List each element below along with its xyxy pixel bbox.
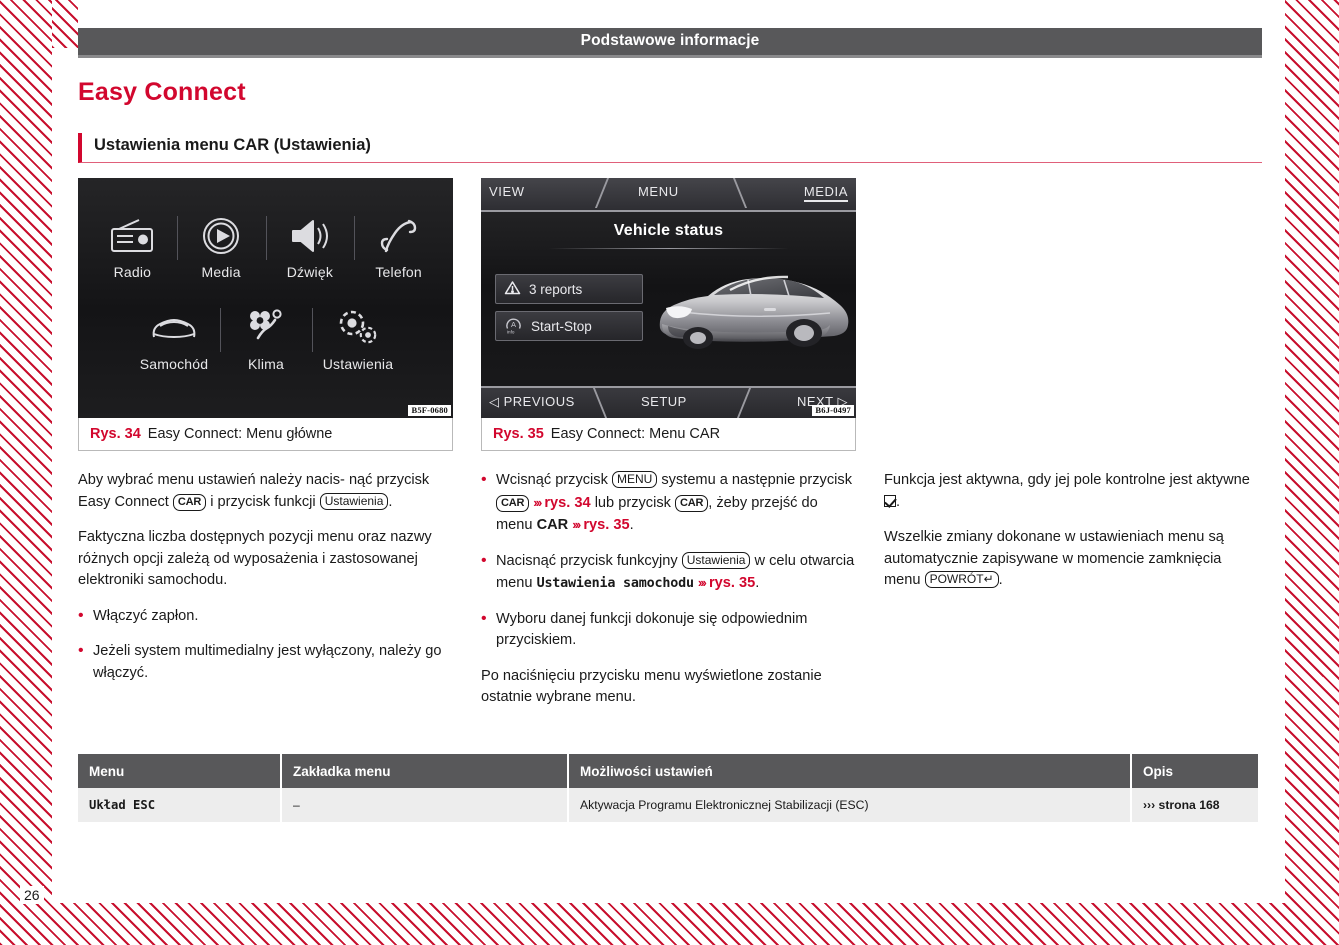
figure-caption-text: Easy Connect: Menu główne (148, 426, 333, 442)
phone-handset-icon (379, 212, 419, 260)
column-header-menu: Menu (78, 754, 281, 788)
tab-separator (595, 178, 609, 208)
chapter-title: Easy Connect (78, 78, 246, 107)
page-root: Podstawowe informacje Easy Connect Ustaw… (0, 0, 1339, 945)
text-run: . (630, 517, 634, 533)
paragraph: Aby wybrać menu ustawień należy nacis- n… (78, 470, 453, 513)
section-heading-text: Ustawienia menu CAR (Ustawienia) (94, 136, 371, 154)
cell-menu-tab: – (281, 788, 568, 822)
text-run: i przycisk funkcji (210, 494, 315, 510)
figure-34: Radio Media (78, 178, 453, 451)
tab-separator (733, 178, 747, 208)
car-menu-top-tabbar: VIEW MENU MEDIA (481, 178, 856, 212)
radio-icon (109, 212, 155, 260)
text-run: Nacisnąć przycisk funkcyjny (496, 553, 678, 569)
menu-item-phone[interactable]: Telefon (354, 212, 443, 280)
menu-item-climate[interactable]: Klima (220, 304, 312, 372)
text-run: Wcisnąć przycisk (496, 472, 608, 488)
page-corner-stripes (52, 0, 78, 48)
menu-button-key: MENU (612, 471, 657, 488)
menu-item-settings[interactable]: Ustawienia (312, 304, 404, 372)
cell-options: Aktywacja Programu Elektronicznej Stabil… (568, 788, 1131, 822)
settings-button-key: Ustawienia (682, 552, 751, 569)
gears-settings-icon (334, 304, 382, 352)
tab-menu[interactable]: MENU (638, 184, 679, 199)
start-stop-button-label: Start-Stop (531, 319, 592, 334)
reports-button[interactable]: 3 reports (495, 274, 643, 304)
cell-description[interactable]: ››› strona 168 (1131, 788, 1258, 822)
vehicle-illustration (652, 250, 852, 363)
figure-34-caption: Rys. 34 Easy Connect: Menu główne (78, 418, 453, 451)
menu-item-radio[interactable]: Radio (88, 212, 177, 280)
tab-setup[interactable]: SETUP (641, 394, 687, 409)
list-item: Włączyć zapłon. (78, 606, 453, 628)
page-number: 26 (20, 886, 44, 904)
car-button-key: CAR (675, 495, 708, 512)
text-run: systemu a następnie przycisk (661, 472, 852, 488)
menu-item-label: Telefon (375, 264, 422, 280)
tab-separator (593, 388, 607, 418)
figure-35-screen: VIEW MENU MEDIA Vehicle status 3 reports (481, 178, 856, 418)
figure-code: B6J-0497 (812, 405, 854, 416)
cross-reference[interactable]: rys. 34 (544, 495, 590, 511)
menu-name: Ustawienia samochodu (537, 576, 694, 591)
text-run: lub przycisk (595, 495, 671, 511)
speaker-sound-icon (288, 212, 332, 260)
list-item: Jeżeli system multimedialny jest wyłączo… (78, 641, 453, 684)
column-header-options: Możliwości ustawień (568, 754, 1131, 788)
list-item: Wyboru danej funkcji dokonuje się odpowi… (481, 609, 856, 652)
tab-media[interactable]: MEDIA (804, 184, 848, 199)
car-menu-bottom-tabbar: ◁ PREVIOUS SETUP NEXT ▷ (481, 386, 856, 418)
svg-text:info: info (507, 329, 515, 334)
figure-label: Rys. 35 (493, 426, 544, 442)
figure-code: B5F-0680 (408, 405, 451, 416)
back-button-label: POWRÓT (930, 572, 984, 586)
menu-item-label: Klima (248, 356, 284, 372)
paragraph: Faktyczna liczba dostępnych pozycji menu… (78, 527, 453, 592)
menu-item-sound[interactable]: Dźwięk (266, 212, 355, 280)
media-play-icon (201, 212, 241, 260)
start-stop-icon: A info (504, 316, 523, 337)
figure-35: VIEW MENU MEDIA Vehicle status 3 reports (481, 178, 856, 451)
running-header-title: Podstawowe informacje (581, 32, 760, 50)
menu-item-car[interactable]: Samochód (128, 304, 220, 372)
list-item: Nacisnąć przycisk funkcyjny Ustawienia w… (481, 551, 856, 595)
title-divider (549, 248, 789, 249)
text-run: Funkcja jest aktywna, gdy jej pole kontr… (884, 472, 1250, 488)
running-header: Podstawowe informacje (78, 28, 1262, 58)
tab-view[interactable]: VIEW (489, 184, 525, 199)
text-run: Aby wybrać menu ustawień należy nacis- (78, 472, 345, 488)
paragraph: Funkcja jest aktywna, gdy jej pole kontr… (884, 470, 1259, 513)
text-run: . (896, 494, 900, 510)
cross-reference[interactable]: rys. 35 (709, 575, 755, 591)
menu-item-label: Ustawienia (323, 356, 393, 372)
paragraph: Po naciśnięciu przycisku menu wyświetlon… (481, 666, 856, 709)
return-arrow-icon: ↵ (984, 572, 994, 586)
menu-item-label: Media (202, 264, 241, 280)
settings-table: Menu Zakładka menu Możliwości ustawień O… (78, 754, 1258, 822)
figure-34-screen: Radio Media (78, 178, 453, 418)
tab-previous[interactable]: ◁ PREVIOUS (489, 394, 575, 410)
previous-arrow-icon: ◁ (489, 394, 500, 409)
figure-caption-text: Easy Connect: Menu CAR (551, 426, 720, 442)
list-item: Wcisnąć przycisk MENU systemu a następni… (481, 470, 856, 537)
car-button-key: CAR (173, 494, 206, 511)
paragraph: Wszelkie zmiany dokonane w ustawieniach … (884, 527, 1259, 592)
settings-button-key: Ustawienia (320, 493, 389, 510)
tab-previous-label: PREVIOUS (504, 394, 575, 409)
column-header-description: Opis (1131, 754, 1258, 788)
vehicle-status-title: Vehicle status (481, 222, 856, 240)
car-front-icon (148, 304, 200, 352)
figure-35-caption: Rys. 35 Easy Connect: Menu CAR (481, 418, 856, 451)
back-button-key: POWRÓT↵ (925, 571, 999, 588)
cell-menu: Układ ESC (78, 788, 281, 822)
section-heading: Ustawienia menu CAR (Ustawienia) (78, 133, 1262, 163)
car-button-key: CAR (496, 495, 529, 512)
body-column-3: Funkcja jest aktywna, gdy jej pole kontr… (884, 470, 1259, 592)
menu-item-label: Radio (114, 264, 152, 280)
text-run: . (388, 494, 392, 510)
body-column-2: Wcisnąć przycisk MENU systemu a następni… (481, 470, 856, 709)
figure-label: Rys. 34 (90, 426, 141, 442)
warning-triangle-icon (504, 280, 521, 298)
checked-checkbox-icon (884, 495, 896, 507)
text-run: . (755, 575, 759, 591)
text-run: . (999, 572, 1003, 588)
menu-item-label: Dźwięk (287, 264, 333, 280)
body-column-1: Aby wybrać menu ustawień należy nacis- n… (78, 470, 453, 698)
start-stop-button[interactable]: A info Start-Stop (495, 311, 643, 341)
reports-button-label: 3 reports (529, 282, 582, 297)
svg-text:A: A (511, 320, 516, 329)
reference-chevron-icon: ››› (572, 517, 579, 532)
menu-item-media[interactable]: Media (177, 212, 266, 280)
tab-separator (737, 388, 751, 418)
reference-chevron-icon: ››› (533, 495, 540, 510)
reference-chevron-icon: ››› (698, 575, 705, 590)
menu-item-label: Samochód (140, 356, 209, 372)
climate-fan-icon (244, 304, 288, 352)
menu-name: CAR (537, 517, 569, 533)
column-header-menu-tab: Zakładka menu (281, 754, 568, 788)
table-header-row: Menu Zakładka menu Możliwości ustawień O… (78, 754, 1258, 788)
table-row: Układ ESC – Aktywacja Programu Elektroni… (78, 788, 1258, 822)
cross-reference[interactable]: rys. 35 (583, 517, 629, 533)
